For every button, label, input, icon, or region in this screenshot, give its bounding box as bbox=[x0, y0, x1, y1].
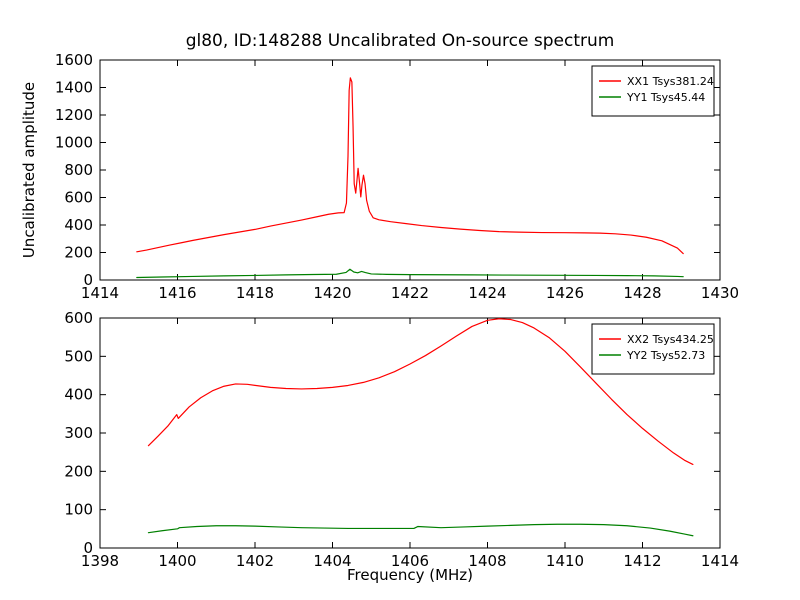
x-tick-label: 1416 bbox=[158, 284, 196, 302]
legend-label-top-0: XX1 Tsys381.24 bbox=[627, 75, 714, 88]
x-tick-label: 1428 bbox=[623, 284, 661, 302]
y-tick-label: 1400 bbox=[55, 79, 93, 97]
y-tick-label: 500 bbox=[64, 347, 93, 365]
y-tick-label: 200 bbox=[64, 462, 93, 480]
y-tick-label: 0 bbox=[83, 539, 93, 557]
y-tick-label: 300 bbox=[64, 424, 93, 442]
x-tick-label: 1412 bbox=[623, 552, 661, 570]
x-tick-label: 1400 bbox=[158, 552, 196, 570]
y-tick-label: 600 bbox=[64, 309, 93, 327]
legend-label-bottom-1: YY2 Tsys52.73 bbox=[626, 349, 705, 362]
spectrum-figure: gl80, ID:148288 Uncalibrated On-source s… bbox=[0, 0, 800, 600]
spectrum-plot-canvas: gl80, ID:148288 Uncalibrated On-source s… bbox=[0, 0, 800, 600]
x-tick-label: 1402 bbox=[236, 552, 274, 570]
x-tick-label: 1414 bbox=[701, 552, 739, 570]
x-tick-label: 1426 bbox=[546, 284, 584, 302]
x-tick-label: 1424 bbox=[468, 284, 506, 302]
x-tick-label: 1430 bbox=[701, 284, 739, 302]
y-tick-label: 0 bbox=[83, 271, 93, 289]
y-tick-label: 400 bbox=[64, 216, 93, 234]
x-tick-label: 1404 bbox=[313, 552, 351, 570]
x-tick-label: 1408 bbox=[468, 552, 506, 570]
x-axis-label: Frequency (MHz) bbox=[347, 566, 473, 584]
x-tick-label: 1410 bbox=[546, 552, 584, 570]
y-tick-label: 800 bbox=[64, 161, 93, 179]
y-tick-label: 100 bbox=[64, 501, 93, 519]
legend-label-bottom-0: XX2 Tsys434.25 bbox=[627, 333, 714, 346]
y-tick-label: 1600 bbox=[55, 51, 93, 69]
legend-label-top-1: YY1 Tsys45.44 bbox=[626, 91, 705, 104]
y-axis-label: Uncalibrated amplitude bbox=[20, 82, 38, 258]
x-tick-label: 1420 bbox=[313, 284, 351, 302]
x-tick-label: 1418 bbox=[236, 284, 274, 302]
y-tick-label: 1200 bbox=[55, 106, 93, 124]
x-tick-label: 1422 bbox=[391, 284, 429, 302]
y-tick-label: 600 bbox=[64, 189, 93, 207]
y-tick-label: 400 bbox=[64, 386, 93, 404]
y-tick-label: 1000 bbox=[55, 134, 93, 152]
page-title: gl80, ID:148288 Uncalibrated On-source s… bbox=[186, 31, 615, 51]
y-tick-label: 200 bbox=[64, 244, 93, 262]
